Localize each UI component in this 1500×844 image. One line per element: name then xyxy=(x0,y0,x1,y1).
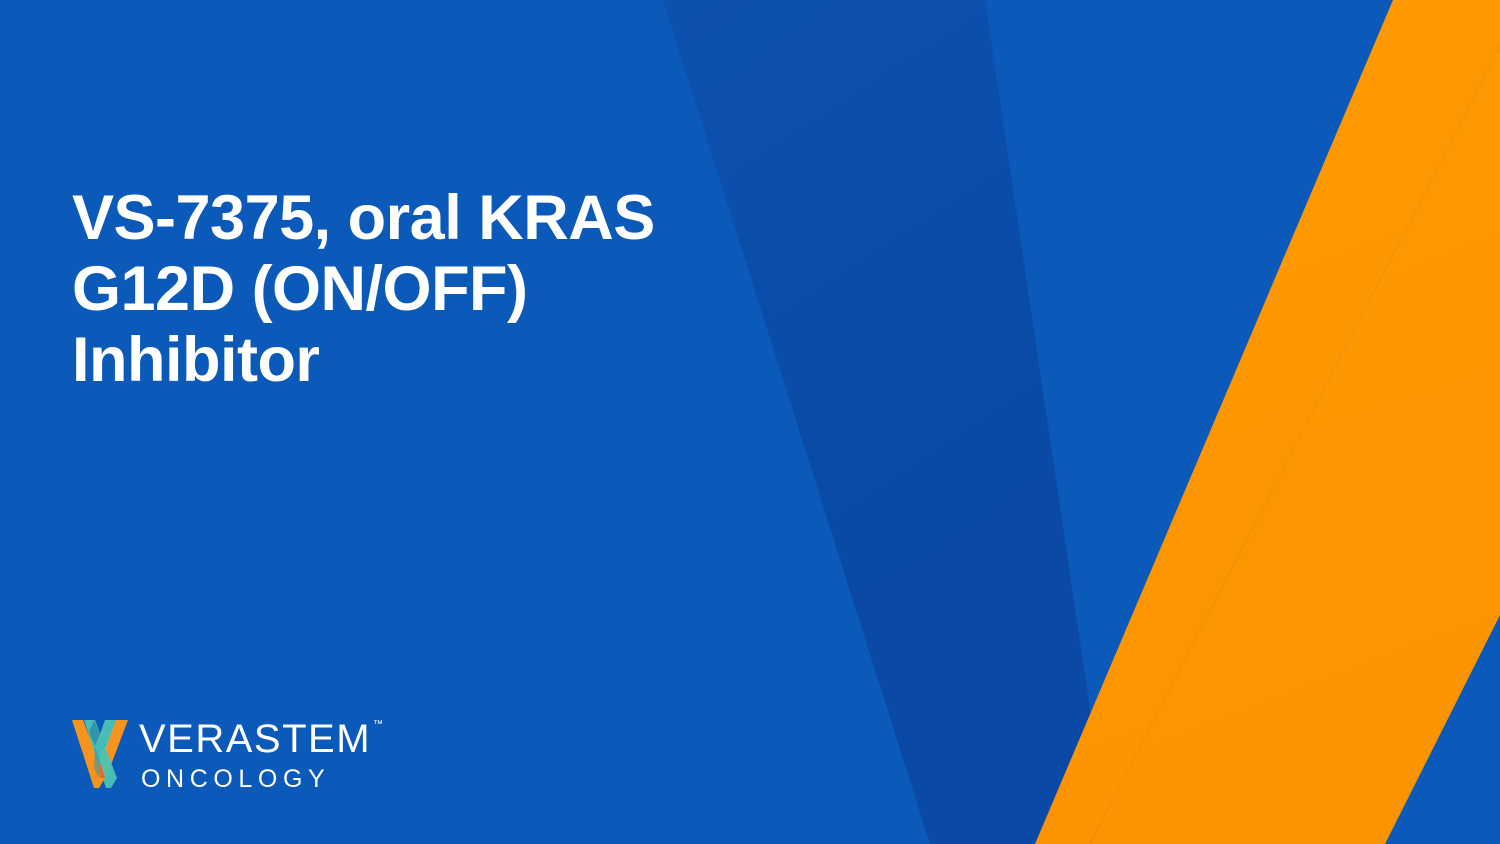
title-line-1: VS-7375, oral KRAS xyxy=(72,183,732,254)
logo-wordmark: VERASTEM ™ xyxy=(139,719,371,759)
title-line-3: Inhibitor xyxy=(72,325,732,396)
logo-text-group: VERASTEM ™ ONCOLOGY xyxy=(139,716,371,792)
trademark-icon: ™ xyxy=(373,720,383,730)
slide-title: VS-7375, oral KRAS G12D (ON/OFF) Inhibit… xyxy=(72,183,732,396)
logo-tagline: ONCOLOGY xyxy=(141,767,371,792)
verastem-oncology-logo: VERASTEM ™ ONCOLOGY xyxy=(72,716,371,792)
verastem-v-mark-icon xyxy=(72,716,128,788)
logo-wordmark-text: VERASTEM xyxy=(139,717,371,761)
slide-canvas: VS-7375, oral KRAS G12D (ON/OFF) Inhibit… xyxy=(0,0,1500,844)
title-line-2: G12D (ON/OFF) xyxy=(72,254,732,325)
